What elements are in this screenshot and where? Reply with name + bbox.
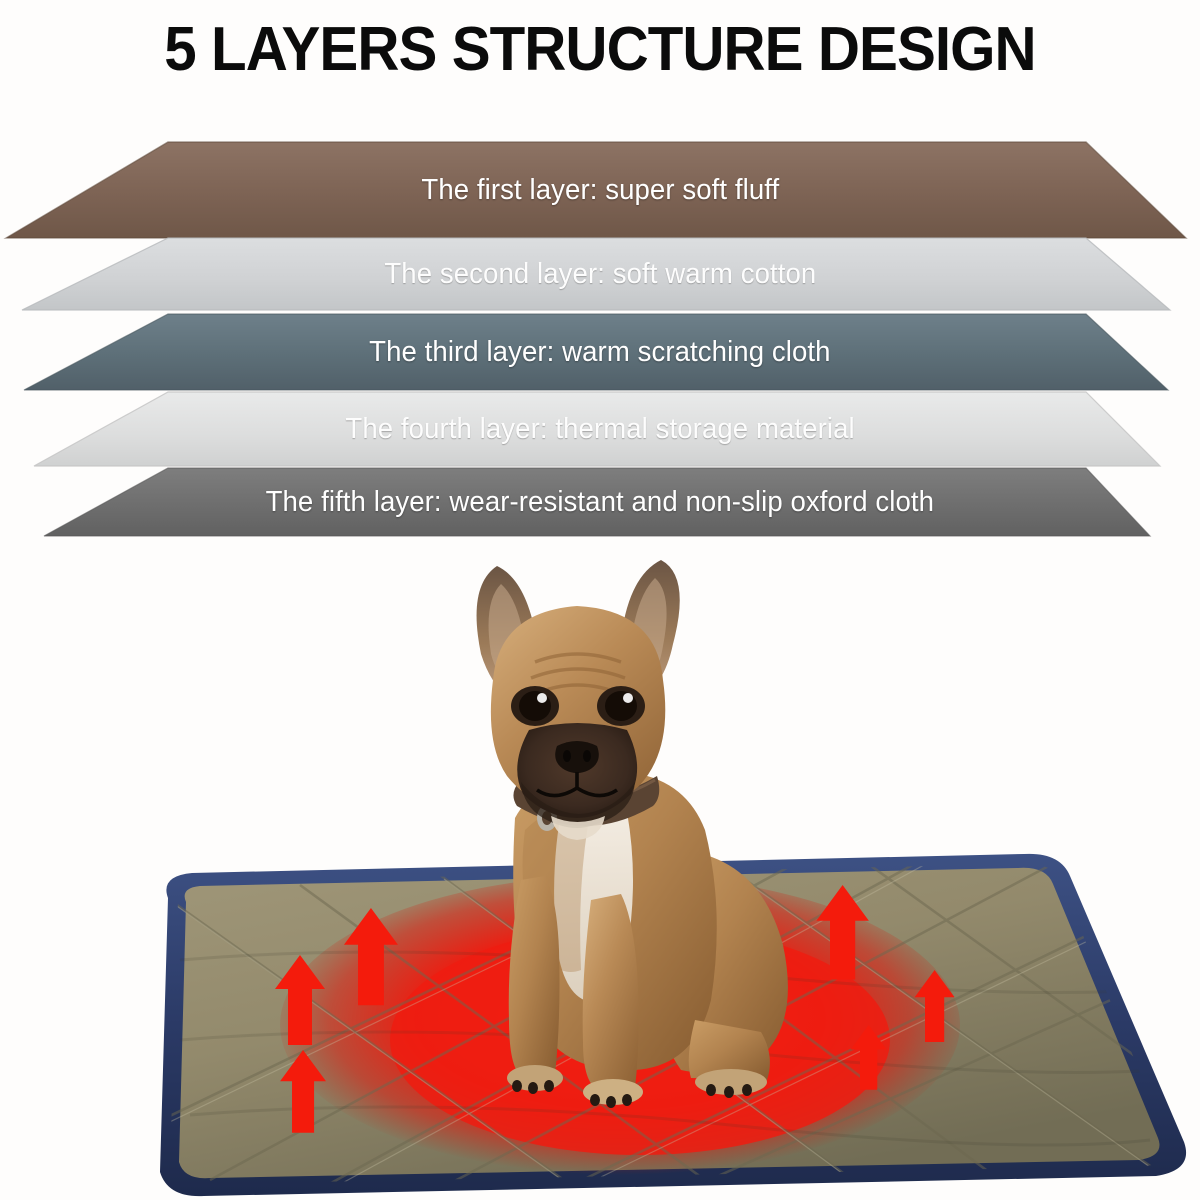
heat-arrow-icon [275, 955, 325, 1045]
product-photo [0, 540, 1200, 1200]
heat-arrow-icon [344, 908, 398, 1005]
layer-band-5: The fifth layer: wear-resistant and non-… [0, 466, 1200, 538]
heat-arrow-icon [816, 885, 869, 980]
layer-band-2: The second layer: soft warm cotton [0, 236, 1200, 312]
heat-arrow-icon [851, 1025, 887, 1090]
layer-label-1: The first layer: super soft fluff [421, 174, 779, 207]
layer-band-1: The first layer: super soft fluff [0, 140, 1200, 240]
page-title: 5 LAYERS STRUCTURE DESIGN [36, 14, 1164, 85]
layer-label-4: The fourth layer: thermal storage materi… [345, 413, 854, 446]
layer-label-3: The third layer: warm scratching cloth [369, 336, 830, 369]
layer-label-5: The fifth layer: wear-resistant and non-… [266, 486, 934, 519]
layer-label-2: The second layer: soft warm cotton [384, 258, 816, 291]
heat-arrow-icon [915, 970, 955, 1042]
heat-arrow-icon [280, 1050, 326, 1133]
dog-paws [507, 1065, 767, 1108]
layer-stack-diagram: The first layer: super soft fluff The se… [0, 140, 1200, 540]
layer-band-3: The third layer: warm scratching cloth [0, 312, 1200, 392]
french-bulldog-illustration-icon [395, 550, 815, 1110]
layer-band-4: The fourth layer: thermal storage materi… [0, 390, 1200, 468]
